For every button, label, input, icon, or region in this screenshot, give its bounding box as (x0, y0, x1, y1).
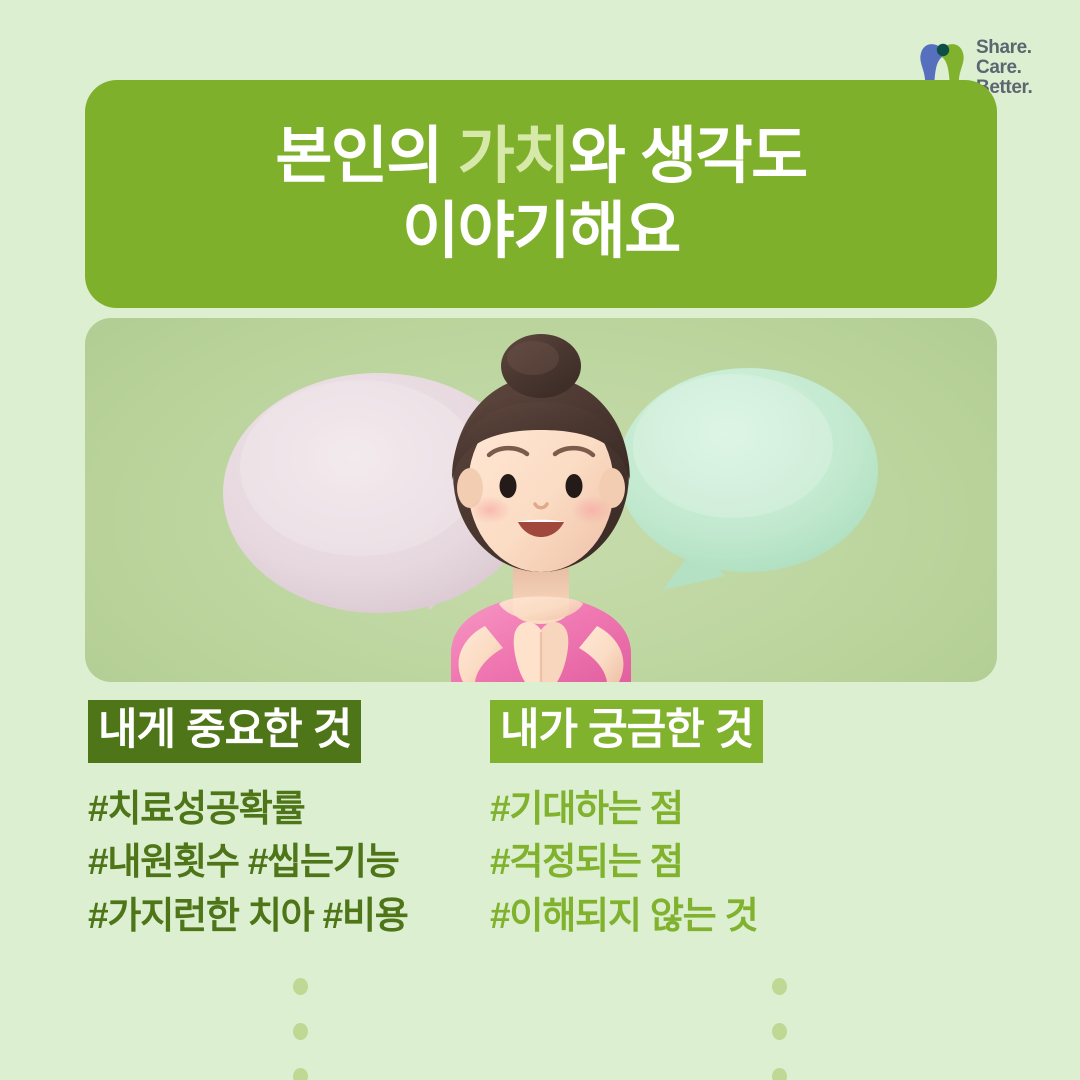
dot-icon (293, 978, 308, 995)
dot-icon (772, 1068, 787, 1080)
woman-figure (451, 334, 631, 682)
list-column-important: 내게 중요한 것 #치료성공확률 #내원횟수 #씹는기능 #가지런한 치아 #비… (0, 700, 490, 939)
dot-icon (772, 1023, 787, 1040)
tag-line: #기대하는 점 (490, 785, 990, 832)
list-column-curious: 내가 궁금한 것 #기대하는 점 #걱정되는 점 #이해되지 않는 것 (490, 700, 990, 939)
header-title-line-1: 본인의 가치와 생각도 (275, 120, 806, 193)
wordmark-line-care: Care. (976, 58, 1032, 78)
heading-curious-wrapper: 내가 궁금한 것 (490, 700, 990, 763)
header-title-part-2: 와 생각도 (569, 122, 807, 191)
decorative-dots-left (293, 978, 308, 1080)
header-title-accent: 가치 (458, 122, 569, 191)
wordmark-line-share: Share. (976, 38, 1032, 58)
dot-icon (772, 978, 787, 995)
tag-line: #이해되지 않는 것 (490, 892, 990, 939)
tag-list-curious: #기대하는 점 #걱정되는 점 #이해되지 않는 것 (490, 785, 990, 939)
tag-list-important: #치료성공확률 #내원횟수 #씹는기능 #가지런한 치아 #비용 (88, 785, 490, 939)
decorative-dots-right (772, 978, 787, 1080)
tag-line: #내원횟수 #씹는기능 (88, 838, 490, 885)
heading-curious: 내가 궁금한 것 (490, 700, 763, 763)
lists-section: 내게 중요한 것 #치료성공확률 #내원횟수 #씹는기능 #가지런한 치아 #비… (0, 700, 1080, 939)
illustration-panel (85, 318, 997, 682)
tag-line: #걱정되는 점 (490, 838, 990, 885)
illustration-artwork (85, 318, 997, 682)
dot-icon (293, 1023, 308, 1040)
heading-important-wrapper: 내게 중요한 것 (88, 700, 490, 763)
header-banner: 본인의 가치와 생각도 이야기해요 (85, 80, 997, 308)
header-title-part-1: 본인의 (275, 122, 457, 191)
tag-line: #치료성공확률 (88, 785, 490, 832)
dot-icon (293, 1068, 308, 1080)
heading-important: 내게 중요한 것 (88, 700, 361, 763)
tag-line: #가지런한 치아 #비용 (88, 892, 490, 939)
header-title-line-2: 이야기해요 (402, 195, 680, 268)
speech-bubble-right (618, 368, 878, 590)
